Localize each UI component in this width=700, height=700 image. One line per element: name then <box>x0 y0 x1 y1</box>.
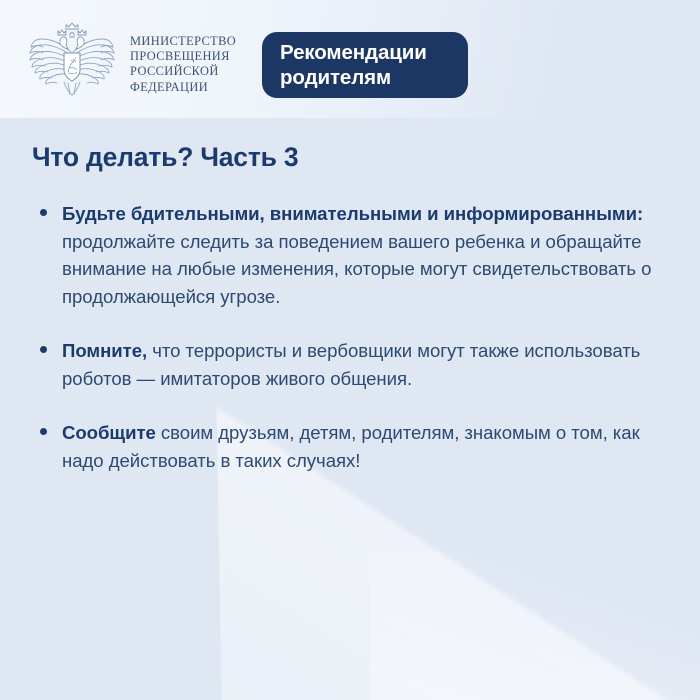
list-item: Сообщите своим друзьям, детям, родителям… <box>34 419 654 474</box>
bullet-point-icon <box>40 428 47 435</box>
bullet-lead: Будьте бдительными, внимательными и инфо… <box>62 203 643 224</box>
badge-line-2: родителям <box>280 66 450 91</box>
ministry-line-1: МИНИСТЕРСТВО <box>130 34 236 49</box>
bullet-text: Будьте бдительными, внимательными и инфо… <box>62 200 654 310</box>
infographic-poster: МИНИСТЕРСТВО ПРОСВЕЩЕНИЯ РОССИЙСКОЙ ФЕДЕ… <box>0 0 700 700</box>
ministry-line-3: РОССИЙСКОЙ <box>130 64 236 79</box>
bullet-text: Сообщите своим друзьям, детям, родителям… <box>62 419 654 474</box>
bullet-text: Помните, что террористы и вербовщики мог… <box>62 337 654 392</box>
bullet-lead: Сообщите <box>62 422 156 443</box>
corner-decoration-wedge-secondary <box>370 550 700 700</box>
ministry-name: МИНИСТЕРСТВО ПРОСВЕЩЕНИЯ РОССИЙСКОЙ ФЕДЕ… <box>130 34 236 95</box>
recommendations-badge: Рекомендации родителям <box>262 32 468 98</box>
coat-of-arms-icon <box>24 22 120 98</box>
poster-header: МИНИСТЕРСТВО ПРОСВЕЩЕНИЯ РОССИЙСКОЙ ФЕДЕ… <box>0 0 700 118</box>
bullet-body: что террористы и вербовщики могут также … <box>62 340 640 389</box>
list-item: Помните, что террористы и вербовщики мог… <box>34 337 654 392</box>
bullet-list: Будьте бдительными, внимательными и инфо… <box>34 200 654 474</box>
ministry-line-4: ФЕДЕРАЦИИ <box>130 80 236 95</box>
page-title: Что делать? Часть 3 <box>32 142 298 173</box>
list-item: Будьте бдительными, внимательными и инфо… <box>34 200 654 310</box>
bullet-lead: Помните, <box>62 340 147 361</box>
bullet-body: продолжайте следить за поведением вашего… <box>62 231 651 307</box>
bullet-point-icon <box>40 346 47 353</box>
badge-line-1: Рекомендации <box>280 41 450 66</box>
bullet-point-icon <box>40 209 47 216</box>
ministry-line-2: ПРОСВЕЩЕНИЯ <box>130 49 236 64</box>
